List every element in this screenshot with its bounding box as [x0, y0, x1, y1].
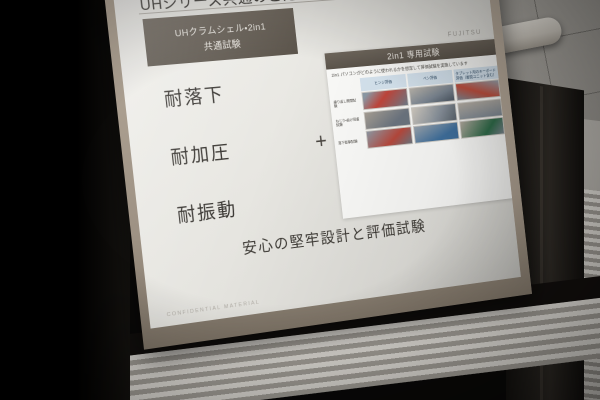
photo-scene: UHシリーズ共通のこだわり UHクラムシェル・2in1 共通試験 耐落下 耐加圧…: [0, 0, 600, 400]
subtitle-line-1: UHクラムシェル・2in1: [174, 19, 267, 40]
slide-surface: UHシリーズ共通のこだわり UHクラムシェル・2in1 共通試験 耐落下 耐加圧…: [113, 0, 521, 329]
row-header: ねじり・曲げ荷重試験: [335, 112, 364, 133]
list-item: 耐落下: [163, 80, 226, 112]
list-item: 耐振動: [176, 194, 239, 227]
thumbnail-photo: [459, 117, 505, 139]
durability-list: 耐落下 耐加圧 耐振動: [163, 80, 239, 228]
list-item: 耐加圧: [169, 137, 232, 170]
table-corner: [331, 78, 359, 94]
projector-screen: UHシリーズ共通のこだわり UHクラムシェル・2in1 共通試験 耐落下 耐加圧…: [103, 0, 532, 350]
evaluation-table: ヒンジ評価 ペン評価 タブレット用のキーボード評価（着脱ユニット含む） 繰り返し…: [328, 65, 509, 156]
plus-icon: +: [314, 128, 328, 154]
test-panel: 2in1 専用試験 2in1 パソコンがどのように使われるかを想定して評価試験を…: [325, 39, 516, 219]
subtitle-line-2: 共通試験: [203, 36, 242, 53]
row-header: 落下衝撃試験: [337, 132, 366, 153]
subtitle-badge: UHクラムシェル・2in1 共通試験: [142, 8, 298, 67]
thumbnail-photo: [413, 122, 460, 144]
thumbnail-photo: [365, 127, 413, 150]
left-dark-wall: [0, 0, 130, 400]
fujitsu-logo: FUJITSU: [448, 29, 483, 38]
row-header: 繰り返し開閉試験: [333, 93, 362, 114]
